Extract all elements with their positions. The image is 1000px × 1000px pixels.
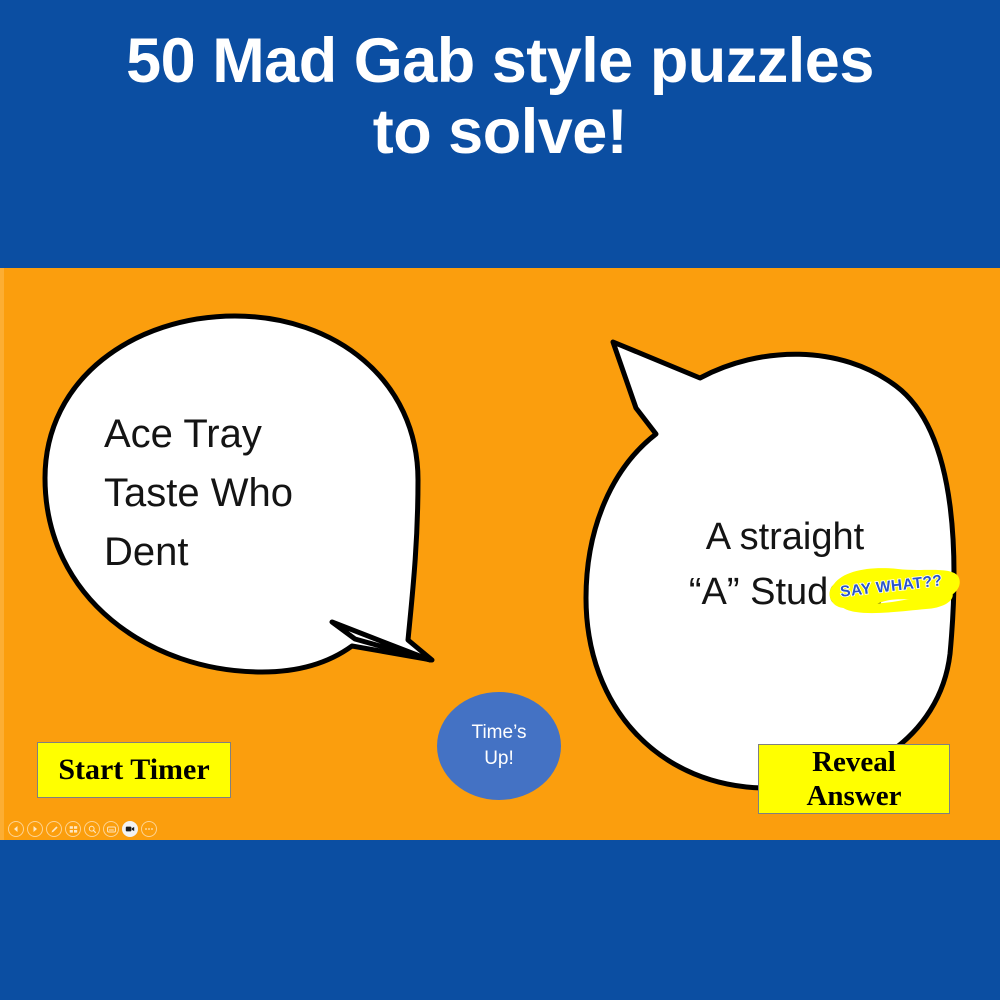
start-timer-button[interactable]: Start Timer [37,742,231,798]
times-up-badge[interactable]: Time’s Up! [437,692,561,800]
subtitles-icon[interactable] [103,821,119,837]
title-banner: 50 Mad Gab style puzzles to solve! [0,0,1000,268]
all-slides-icon[interactable] [65,821,81,837]
previous-slide-icon[interactable] [8,821,24,837]
left-bubble-text: Ace Tray Taste Who Dent [104,405,364,581]
bottom-blue-band [0,840,1000,1000]
more-options-icon[interactable] [141,821,157,837]
presenter-toolbar [8,820,157,838]
say-what-sticker: SAY WHAT?? [826,560,964,622]
reveal-answer-button[interactable]: Reveal Answer [758,744,950,814]
slideshow-stage: 50 Mad Gab style puzzles to solve! Ace T… [0,0,1000,1000]
pen-icon[interactable] [46,821,62,837]
next-slide-icon[interactable] [27,821,43,837]
page-title: 50 Mad Gab style puzzles to solve! [20,26,980,167]
camera-icon[interactable] [122,821,138,837]
zoom-icon[interactable] [84,821,100,837]
